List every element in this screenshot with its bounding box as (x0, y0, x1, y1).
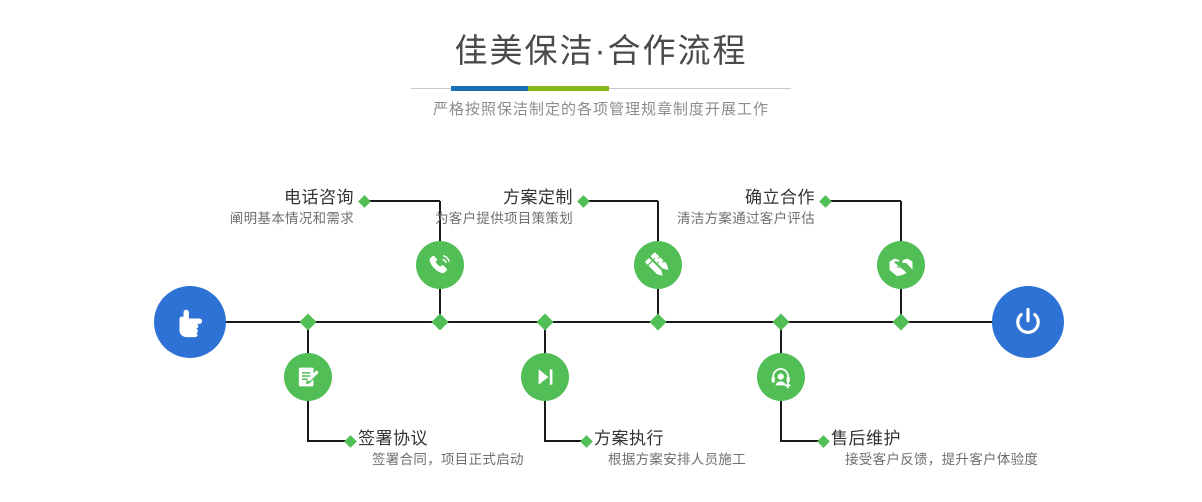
axis-marker-5 (893, 314, 910, 331)
axis-marker-2 (300, 314, 317, 331)
step-node-1[interactable] (416, 241, 464, 289)
axis-marker-6 (773, 314, 790, 331)
step-label-marker-2 (344, 435, 357, 448)
play-step-icon (530, 362, 560, 392)
step-node-3[interactable] (634, 241, 682, 289)
step-desc-6: 接受客户反馈，提升客户体验度 (831, 450, 1171, 470)
step-title-6: 售后维护 (831, 428, 1171, 450)
power-icon (1008, 302, 1048, 342)
pencil-ruler-icon (643, 250, 673, 280)
step-node-5[interactable] (877, 241, 925, 289)
step-node-4[interactable] (521, 353, 569, 401)
axis-marker-4 (537, 314, 554, 331)
timeline-start-node[interactable] (154, 286, 226, 358)
handshake-icon (885, 249, 917, 281)
process-timeline: 电话咨询 阐明基本情况和需求 签署协议 签署合同，项目正式启动 (0, 0, 1202, 502)
step-label-6: 售后维护 接受客户反馈，提升客户体验度 (831, 428, 1171, 470)
sign-document-icon (293, 362, 323, 392)
step-label-5: 确立合作 清洁方案通过客户评估 (515, 187, 815, 229)
customer-service-add-icon (766, 362, 796, 392)
infographic-canvas: 佳美保洁·合作流程 严格按照保洁制定的各项管理规章制度开展工作 (0, 0, 1202, 502)
phone-call-icon (425, 250, 455, 280)
step-desc-5: 清洁方案通过客户评估 (515, 209, 815, 229)
step-connector-horizontal-5 (825, 200, 901, 202)
step-label-marker-5 (819, 195, 832, 208)
axis-marker-1 (432, 314, 449, 331)
step-title-5: 确立合作 (515, 187, 815, 209)
timeline-end-node[interactable] (992, 286, 1064, 358)
step-node-2[interactable] (284, 353, 332, 401)
pointing-hand-icon (170, 302, 210, 342)
axis-marker-3 (650, 314, 667, 331)
step-node-6[interactable] (757, 353, 805, 401)
